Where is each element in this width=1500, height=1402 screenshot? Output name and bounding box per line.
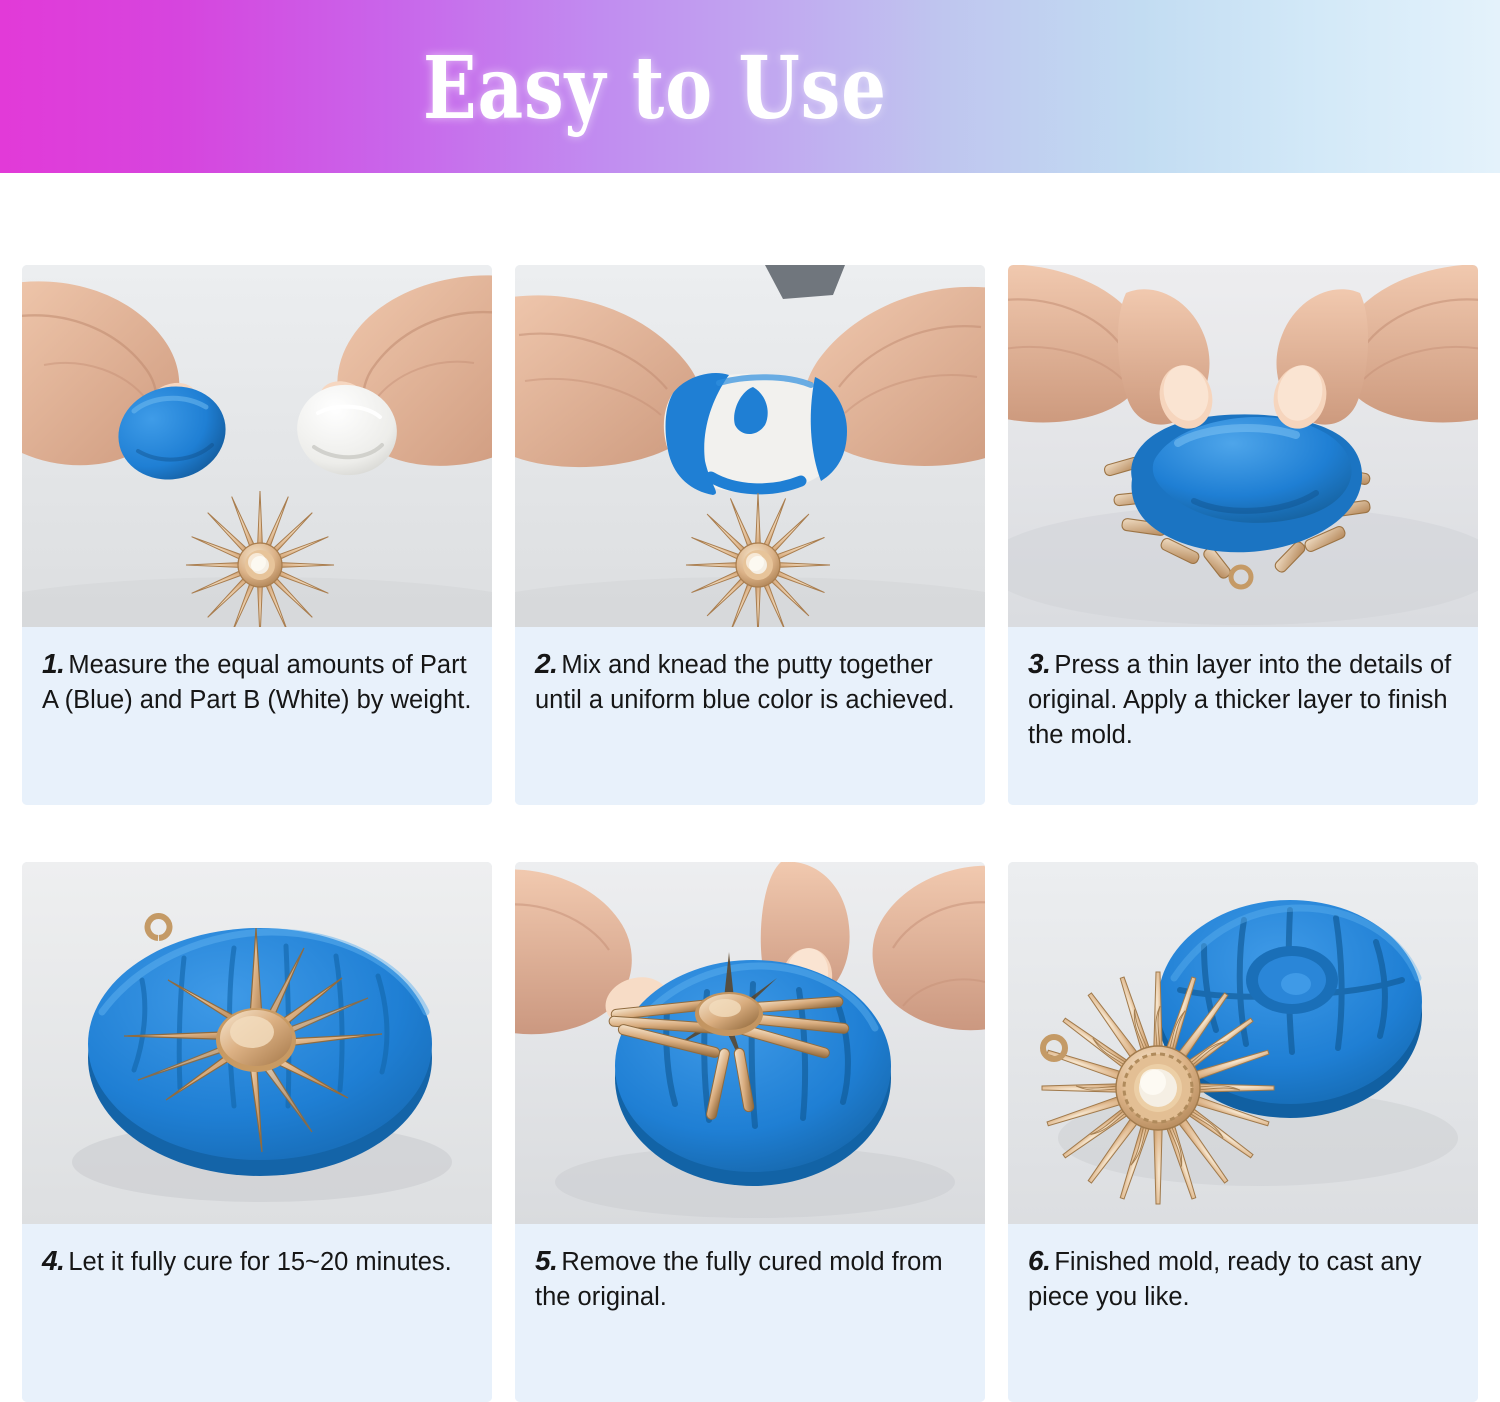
step-number-4: 4. — [42, 1245, 68, 1276]
step-number-2: 2. — [535, 648, 561, 679]
step-caption-4: 4.Let it fully cure for 15~20 minutes. — [22, 1224, 492, 1402]
step-number-1: 1. — [42, 648, 68, 679]
marbled-putty-lump — [664, 373, 847, 495]
step-text-4: Let it fully cure for 15~20 minutes. — [68, 1248, 451, 1276]
step-caption-5: 5.Remove the fully cured mold from the o… — [515, 1224, 985, 1402]
step-card-1: 1.Measure the equal amounts of Part A (B… — [22, 265, 492, 805]
step-card-6: 6.Finished mold, ready to cast any piece… — [1008, 862, 1478, 1402]
step-number-6: 6. — [1028, 1245, 1054, 1276]
step-caption-3: 3.Press a thin layer into the details of… — [1008, 627, 1478, 805]
step-caption-2: 2.Mix and knead the putty together until… — [515, 627, 985, 805]
mold-cavity — [1246, 946, 1338, 1014]
step-text-5: Remove the fully cured mold from the ori… — [535, 1248, 943, 1311]
step-text-2: Mix and knead the putty together until a… — [535, 651, 955, 714]
step-text-3: Press a thin layer into the details of o… — [1028, 651, 1451, 749]
step-photo-3 — [1008, 265, 1478, 627]
page-title: Easy to Use — [423, 46, 887, 132]
step-photo-6 — [1008, 862, 1478, 1224]
step-caption-6: 6.Finished mold, ready to cast any piece… — [1008, 1224, 1478, 1402]
step-photo-5 — [515, 862, 985, 1224]
step-number-5: 5. — [535, 1245, 561, 1276]
step-card-4: 4.Let it fully cure for 15~20 minutes. — [22, 862, 492, 1402]
infographic-page: Easy to Use — [0, 0, 1500, 1399]
step-card-3: 3.Press a thin layer into the details of… — [1008, 265, 1478, 805]
step-caption-1: 1.Measure the equal amounts of Part A (B… — [22, 627, 492, 805]
step-photo-4 — [22, 862, 492, 1224]
step-text-1: Measure the equal amounts of Part A (Blu… — [42, 651, 471, 714]
step-photo-1 — [22, 265, 492, 627]
step-card-2: 2.Mix and knead the putty together until… — [515, 265, 985, 805]
step-text-6: Finished mold, ready to cast any piece y… — [1028, 1248, 1421, 1311]
header-banner: Easy to Use — [0, 0, 1500, 173]
step-photo-2 — [515, 265, 985, 627]
cured-blue-mold — [615, 960, 891, 1186]
step-card-5: 5.Remove the fully cured mold from the o… — [515, 862, 985, 1402]
steps-grid: 1.Measure the equal amounts of Part A (B… — [22, 265, 1478, 1402]
step-number-3: 3. — [1028, 648, 1054, 679]
